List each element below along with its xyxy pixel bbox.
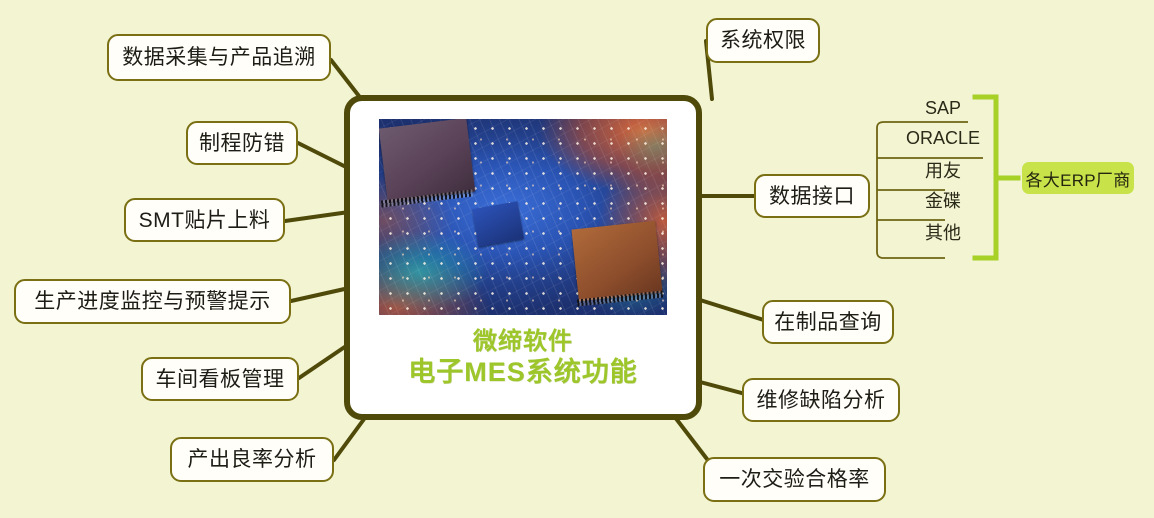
- node-system-permissions[interactable]: 系统权限: [706, 18, 820, 63]
- chip-small-blue: [472, 201, 524, 246]
- node-repair-defect-analysis[interactable]: 维修缺陷分析: [742, 378, 900, 422]
- link-to-shengchanjindu: [291, 288, 349, 301]
- center-title-line1: 微缔软件: [408, 327, 638, 356]
- erp-group-label: 各大ERP厂商: [1025, 166, 1130, 191]
- node-label: 产出良率分析: [188, 449, 317, 470]
- erp-group-badge[interactable]: 各大ERP厂商: [1022, 162, 1134, 194]
- node-label: 一次交验合格率: [719, 469, 870, 490]
- node-first-pass-yield[interactable]: 一次交验合格率: [703, 457, 886, 502]
- erp-item-oracle[interactable]: ORACLE: [895, 122, 991, 154]
- node-process-error-proofing[interactable]: 制程防错: [186, 121, 298, 165]
- node-output-yield-analysis[interactable]: 产出良率分析: [170, 437, 334, 482]
- center-title-line2: 电子MES系统功能: [408, 356, 638, 389]
- erp-item-kingdee[interactable]: 金碟: [895, 184, 991, 216]
- chip-large-dark: [379, 119, 475, 202]
- node-production-progress-monitoring[interactable]: 生产进度监控与预警提示: [14, 279, 291, 324]
- erp-item-label: 用友: [925, 157, 961, 183]
- center-node[interactable]: 微缔软件 电子MES系统功能: [344, 95, 702, 420]
- erp-item-yonyou[interactable]: 用友: [895, 154, 991, 186]
- circuit-board-photo: [379, 119, 667, 315]
- erp-item-label: ORACLE: [906, 128, 980, 149]
- node-smt-feeding[interactable]: SMT贴片上料: [124, 198, 285, 242]
- node-label: 维修缺陷分析: [757, 390, 886, 411]
- node-label: 制程防错: [199, 133, 285, 154]
- erp-item-other[interactable]: 其他: [895, 216, 991, 248]
- link-to-zaizhipin: [700, 300, 767, 321]
- erp-item-label: 金碟: [925, 187, 961, 213]
- erp-vendor-list: SAP ORACLE 用友 金碟 其他: [877, 92, 997, 272]
- chip-copper: [571, 221, 662, 301]
- node-label: SMT贴片上料: [139, 210, 271, 231]
- link-to-smt: [285, 212, 349, 221]
- node-data-collection-traceability[interactable]: 数据采集与产品追溯: [107, 34, 331, 81]
- node-wip-query[interactable]: 在制品查询: [762, 300, 894, 344]
- erp-item-label: 其他: [925, 219, 961, 245]
- mindmap-canvas: 数据采集与产品追溯 制程防错 SMT贴片上料 生产进度监控与预警提示 车间看板管…: [0, 0, 1154, 518]
- erp-item-label: SAP: [925, 98, 961, 119]
- node-label: 生产进度监控与预警提示: [34, 291, 271, 312]
- node-label: 在制品查询: [774, 312, 882, 333]
- node-data-interface[interactable]: 数据接口: [754, 174, 870, 218]
- center-title: 微缔软件 电子MES系统功能: [408, 327, 638, 389]
- node-label: 系统权限: [720, 30, 806, 51]
- node-label: 数据采集与产品追溯: [122, 47, 316, 68]
- node-label: 车间看板管理: [156, 369, 285, 390]
- node-workshop-kanban[interactable]: 车间看板管理: [141, 357, 299, 401]
- node-label: 数据接口: [769, 186, 855, 207]
- erp-item-sap[interactable]: SAP: [895, 92, 991, 124]
